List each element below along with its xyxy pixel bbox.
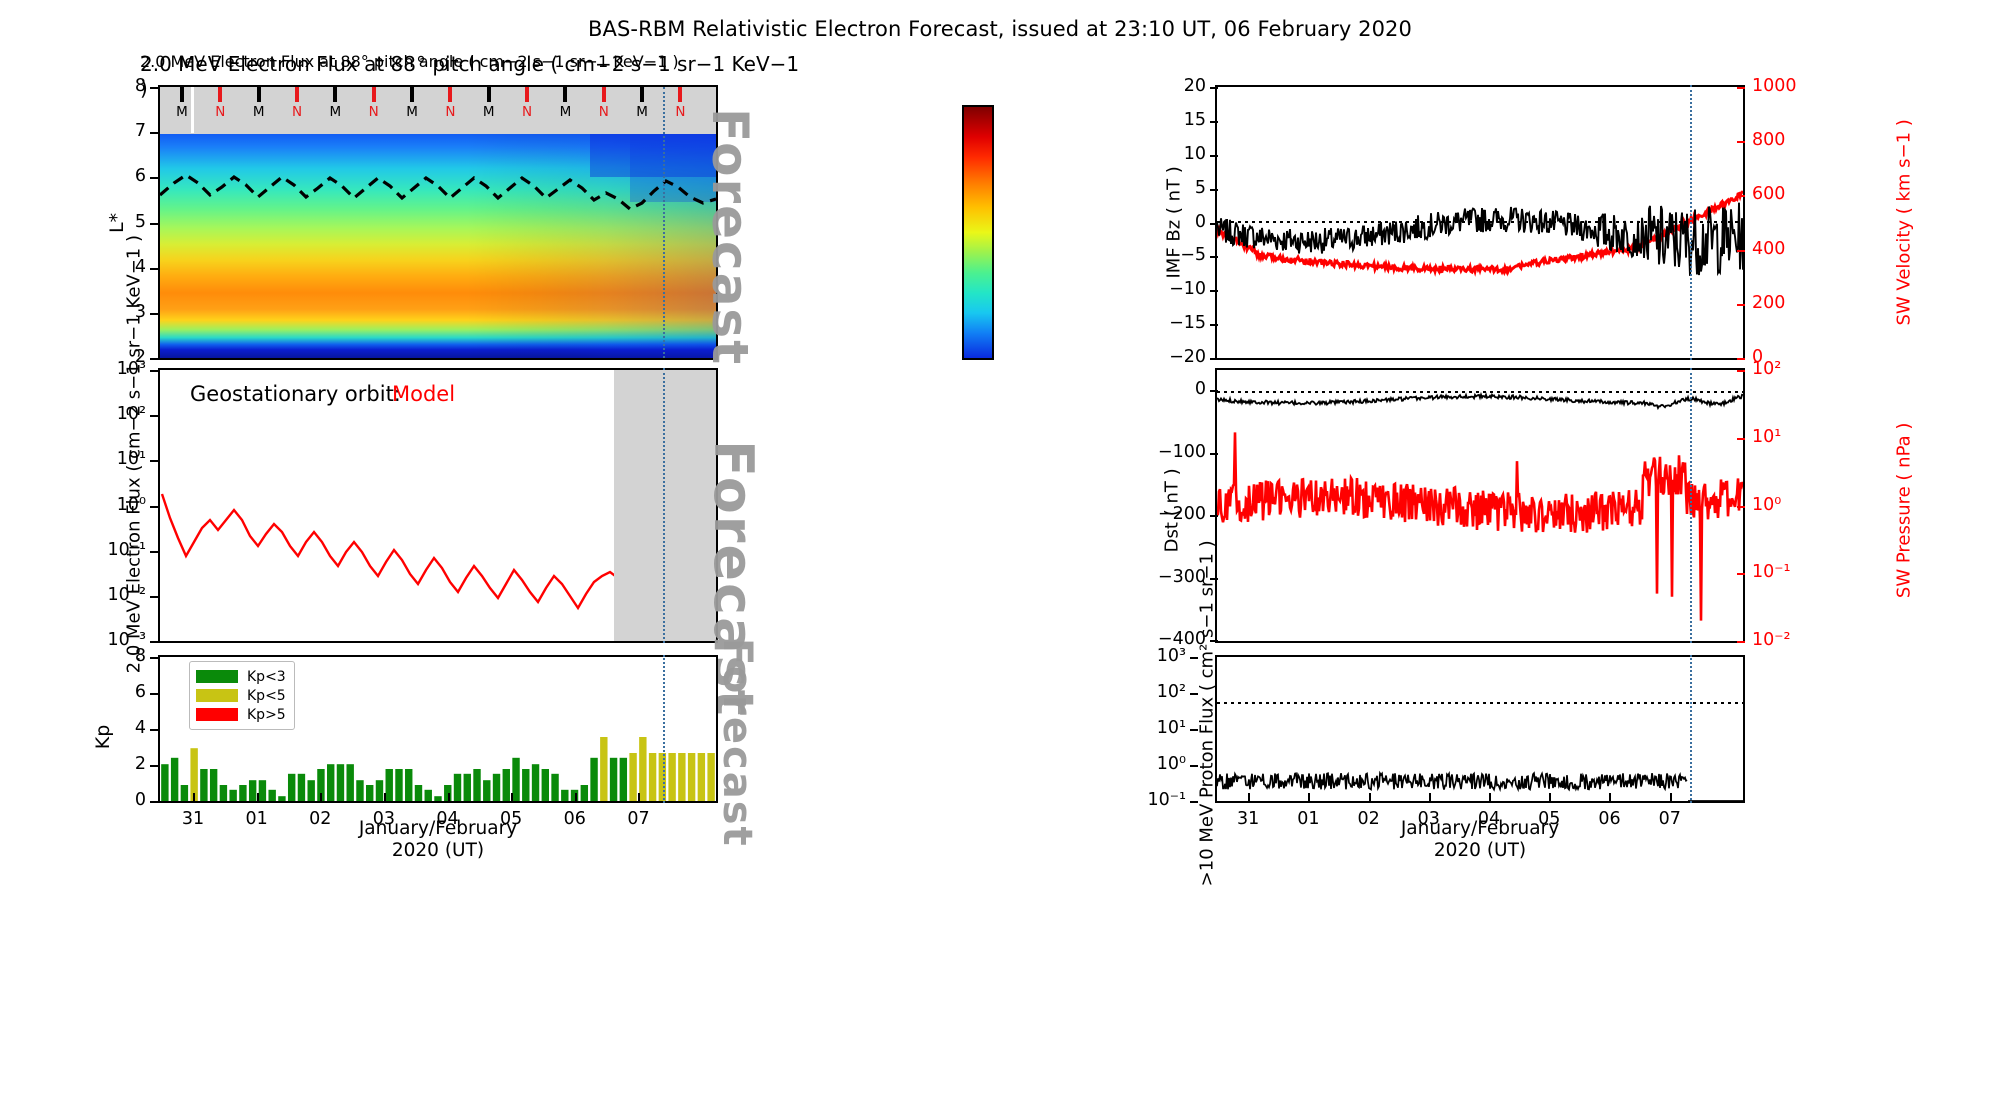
colorbar <box>962 105 994 360</box>
imf-ylabel-left: IMF Bz ( nT ) <box>1165 132 1186 312</box>
kp-legend-swatch-red <box>196 708 238 721</box>
kp-bar <box>259 780 266 801</box>
kp-bar <box>366 785 373 801</box>
kp-bar <box>688 753 695 801</box>
imf-yr-label: 200 <box>1752 293 1785 313</box>
dst-yl-tick <box>1210 515 1218 517</box>
kp-yticks-tick <box>150 801 158 803</box>
mn-tick-m <box>180 87 184 102</box>
dst-yr-label: 10⁻² <box>1752 630 1791 650</box>
imf-ylabel-left-text: IMF Bz ( nT ) <box>1164 166 1185 278</box>
dst-yr-label: 10⁰ <box>1752 495 1781 515</box>
spec-yticks-tick <box>150 268 158 270</box>
kp-bar <box>181 785 188 801</box>
left-xlabel-line1: January/February <box>258 818 618 840</box>
right-xticks-tick <box>1248 793 1250 803</box>
left-xticks-label: 07 <box>625 809 651 829</box>
imf-yr-label: 800 <box>1752 130 1785 150</box>
mn-label-m: M <box>401 104 423 120</box>
watermark-geo: Forecast <box>705 440 765 670</box>
left-xticks-tick <box>575 793 577 803</box>
kp-yticks-label: 8 <box>108 646 146 666</box>
proton-curve <box>1217 657 1743 801</box>
kp-yticks-tick <box>150 657 158 659</box>
prot-yticks-label: 10³ <box>1130 646 1186 666</box>
kp-bar <box>473 769 480 801</box>
kp-bar <box>649 753 656 801</box>
kp-bar <box>639 737 646 801</box>
dst-ylabel-right: SW Pressure ( nPa ) <box>1895 395 1916 625</box>
kp-bar <box>698 753 705 801</box>
kp-bar <box>522 769 529 801</box>
imf-yl-tick <box>1210 358 1218 360</box>
mn-tick-m <box>410 87 414 102</box>
imf-yr-label: 1000 <box>1752 76 1797 96</box>
kp-yticks-label: 0 <box>108 790 146 810</box>
mn-label-m: M <box>478 104 500 120</box>
dst-yl-tick <box>1210 390 1218 392</box>
left-xticks-label: 31 <box>180 809 206 829</box>
mn-label-n: N <box>669 104 691 120</box>
mn-tick-n <box>525 87 529 102</box>
left-xticks-tick <box>638 793 640 803</box>
mn-label-n: N <box>516 104 538 120</box>
geo-yticks-tick <box>150 551 158 553</box>
spec-yticks-tick <box>150 313 158 315</box>
kp-bar <box>425 790 432 801</box>
right-xticks-label: 07 <box>1657 809 1683 829</box>
geo-yticks-tick <box>150 370 158 372</box>
forecast-line-dst <box>1690 368 1692 643</box>
dst-yr-tick <box>1737 641 1745 643</box>
right-xlabel: January/February 2020 (UT) <box>1300 818 1660 862</box>
left-xticks-tick <box>320 793 322 803</box>
forecast-line-geo <box>663 368 665 643</box>
kp-bar <box>610 758 617 801</box>
kp-legend-row: Kp<5 <box>196 686 286 705</box>
mn-label-m: M <box>324 104 346 120</box>
kp-bar <box>668 753 675 801</box>
mn-tick-m <box>487 87 491 102</box>
mn-label-n: N <box>363 104 385 120</box>
forecast-line-kp <box>663 655 665 803</box>
spec-yticks-tick <box>150 177 158 179</box>
kp-bar <box>542 769 549 801</box>
mn-tick-n <box>602 87 606 102</box>
kp-bar <box>161 764 168 801</box>
imf-yr-label: 400 <box>1752 239 1785 259</box>
kp-bar <box>307 780 314 801</box>
kp-bar <box>386 769 393 801</box>
figure-title: BAS-RBM Relativistic Electron Forecast, … <box>0 17 2000 41</box>
mn-label-n: N <box>209 104 231 120</box>
proton-ylabel: >10 MeV Proton Flux ( cm² s−1 sr−1 ) <box>1198 586 1219 886</box>
geo-flux-ylabel: 2.0 MeV Electron Flux ( cm−2 s−1 sr−1 Ke… <box>125 343 146 673</box>
imf-yl-tick <box>1210 290 1218 292</box>
left-xticks-tick <box>193 793 195 803</box>
kp-bar <box>229 790 236 801</box>
mn-label-n: N <box>286 104 308 120</box>
imf-yl-tick <box>1210 87 1218 89</box>
mn-tick-n <box>372 87 376 102</box>
dst-yr-label: 10⁻¹ <box>1752 562 1791 582</box>
imf-yl-label: 20 <box>1150 76 1206 96</box>
mn-label-n: N <box>439 104 461 120</box>
left-xticks-tick <box>257 793 259 803</box>
prot-yticks-label: 10⁰ <box>1130 754 1186 774</box>
kp-bar <box>268 790 275 801</box>
imf-yl-tick <box>1210 121 1218 123</box>
kp-bar <box>278 796 285 801</box>
kp-legend-swatch-yellow <box>196 689 238 702</box>
kp-yticks-tick <box>150 693 158 695</box>
kp-yticks-tick <box>150 729 158 731</box>
kp-bar <box>464 774 471 801</box>
kp-bar <box>561 790 568 801</box>
kp-bar <box>347 764 354 801</box>
geo-yticks-tick <box>150 641 158 643</box>
kp-bar <box>405 769 412 801</box>
kp-legend-row: Kp>5 <box>196 705 286 724</box>
dst-yr-tick <box>1737 506 1745 508</box>
kp-bar <box>678 753 685 801</box>
kp-bar <box>483 780 490 801</box>
right-xlabel-line2: 2020 (UT) <box>1300 840 1660 862</box>
mn-label-m: M <box>248 104 270 120</box>
kp-bar <box>512 758 519 801</box>
mn-label-m: M <box>631 104 653 120</box>
prot-yticks-label: 10² <box>1130 682 1186 702</box>
colorbar-gradient <box>964 107 992 358</box>
mn-tick-n <box>448 87 452 102</box>
kp-bar <box>327 764 334 801</box>
watermark-kp: Forecast <box>710 638 760 828</box>
imf-yl-tick <box>1210 223 1218 225</box>
imf-curves <box>1217 87 1743 358</box>
mn-tick-n <box>295 87 299 102</box>
kp-bar <box>356 780 363 801</box>
kp-legend-label-0: Kp<3 <box>247 669 286 685</box>
imf-yl-label: −20 <box>1150 347 1206 367</box>
kp-bar <box>288 774 295 801</box>
geo-label-static: Geostationary orbit: <box>190 382 401 406</box>
mn-tick-m <box>563 87 567 102</box>
dst-axes <box>1215 368 1745 643</box>
imf-yr-tick <box>1737 250 1745 252</box>
kp-bar <box>415 785 422 801</box>
dst-yr-tick <box>1737 438 1745 440</box>
kp-legend-label-2: Kp>5 <box>247 707 286 723</box>
imf-yr-tick <box>1737 87 1745 89</box>
right-xticks-tick <box>1670 793 1672 803</box>
forecast-shade-geo <box>614 370 716 641</box>
geo-label-model: Model <box>392 382 455 406</box>
proton-axes <box>1215 655 1745 803</box>
kp-yticks-tick <box>150 765 158 767</box>
spec-yticks-label: 7 <box>108 121 146 141</box>
kp-bar <box>600 737 607 801</box>
kp-bar <box>620 758 627 801</box>
prot-yticks-label: 10⁻¹ <box>1130 790 1186 810</box>
right-xticks-tick <box>1308 793 1310 803</box>
dst-ylabel-left: Dst ( nT ) <box>1163 435 1184 585</box>
geo-yticks-tick <box>150 506 158 508</box>
dst-curves <box>1217 370 1743 641</box>
dst-yl-tick <box>1210 453 1218 455</box>
dst-yr-tick <box>1737 370 1745 372</box>
spec-yticks-tick <box>150 358 158 360</box>
kp-bar <box>434 796 441 801</box>
kp-bar <box>200 769 207 801</box>
kp-yticks-label: 6 <box>108 682 146 702</box>
dst-yl-label: 0 <box>1120 379 1206 399</box>
dst-yr-label: 10² <box>1752 359 1781 379</box>
imf-ylabel-right: SW Velocity ( km s−1 ) <box>1895 107 1916 337</box>
left-xlabel: January/February 2020 (UT) <box>258 818 618 862</box>
mn-label-m: M <box>171 104 193 120</box>
kp-bar <box>454 774 461 801</box>
left-xticks-tick <box>511 793 513 803</box>
dst-ylabel-left-text: Dst ( nT ) <box>1162 468 1183 552</box>
imf-yl-tick <box>1210 155 1218 157</box>
kp-ylabel: Kp <box>93 707 115 767</box>
kp-bar <box>337 764 344 801</box>
geo-yticks-tick <box>150 596 158 598</box>
dst-ylabel-right-text: SW Pressure ( nPa ) <box>1894 423 1915 599</box>
kp-bar <box>581 785 588 801</box>
left-xlabel-line2: 2020 (UT) <box>258 840 618 862</box>
kp-bar <box>493 774 500 801</box>
kp-bar <box>503 769 510 801</box>
mn-tick-m <box>640 87 644 102</box>
mn-label-n: N <box>593 104 615 120</box>
imf-yr-tick <box>1737 304 1745 306</box>
imf-yl-label: 15 <box>1150 110 1206 130</box>
right-xticks-label: 31 <box>1235 809 1261 829</box>
prot-yticks-label: 10¹ <box>1130 718 1186 738</box>
right-xticks-tick <box>1369 793 1371 803</box>
spec-yticks-tick <box>150 132 158 134</box>
kp-bar <box>239 785 246 801</box>
dst-yr-label: 10¹ <box>1752 427 1781 447</box>
imf-yl-tick <box>1210 256 1218 258</box>
kp-bar <box>376 780 383 801</box>
kp-bar <box>220 785 227 801</box>
right-xlabel-line1: January/February <box>1300 818 1660 840</box>
right-xticks-tick <box>1489 793 1491 803</box>
mn-tick-m <box>257 87 261 102</box>
kp-legend-label-1: Kp<5 <box>247 688 286 704</box>
kp-bar <box>171 758 178 801</box>
figure-root: BAS-RBM Relativistic Electron Forecast, … <box>0 0 2000 1100</box>
geo-flux-axes <box>158 368 718 643</box>
mn-label-m: M <box>554 104 576 120</box>
mn-tick-n <box>678 87 682 102</box>
kp-bar <box>532 764 539 801</box>
kp-bar <box>249 780 256 801</box>
imf-yr-tick <box>1737 141 1745 143</box>
left-xticks-tick <box>448 793 450 803</box>
imf-axes <box>1215 85 1745 360</box>
imf-ylabel-right-text: SW Velocity ( km s−1 ) <box>1894 119 1915 325</box>
geo-yticks-tick <box>150 415 158 417</box>
spec-yticks-label: 6 <box>108 166 146 186</box>
watermark-spectrogram: Forecast <box>699 108 759 298</box>
kp-bar <box>590 758 597 801</box>
imf-yl-tick <box>1210 324 1218 326</box>
kp-bar <box>298 774 305 801</box>
proton-ylabel-text: >10 MeV Proton Flux ( cm² s−1 sr−1 ) <box>1197 540 1218 886</box>
forecast-line-spectrogram <box>663 87 665 358</box>
dst-yr-tick <box>1737 573 1745 575</box>
imf-yr-label: 600 <box>1752 184 1785 204</box>
mn-tick-m <box>333 87 337 102</box>
kp-bar <box>395 769 402 801</box>
geo-ylabel-text: 2.0 MeV Electron Flux ( cm−2 s−1 sr−1 Ke… <box>124 235 145 673</box>
imf-yl-label: −15 <box>1150 313 1206 333</box>
geo-yticks-tick <box>150 460 158 462</box>
kp-bar <box>551 774 558 801</box>
right-xticks-tick <box>1609 793 1611 803</box>
kp-legend-row: Kp<3 <box>196 667 286 686</box>
kp-bar <box>629 753 636 801</box>
mn-tick-n <box>218 87 222 102</box>
right-xticks-tick <box>1549 793 1551 803</box>
right-xticks-tick <box>1429 793 1431 803</box>
left-xticks-tick <box>384 793 386 803</box>
spec-yticks-tick <box>150 223 158 225</box>
kp-legend-swatch-green <box>196 670 238 683</box>
kp-legend: Kp<3 Kp<5 Kp>5 <box>189 661 295 730</box>
forecast-line-proton <box>1690 655 1692 803</box>
spec-yticks-tick <box>150 87 158 89</box>
kp-bar <box>210 769 217 801</box>
forecast-line-imf <box>1690 85 1692 360</box>
imf-yl-tick <box>1210 189 1218 191</box>
spec-yticks-label: 8 <box>108 76 146 96</box>
imf-yr-tick <box>1737 358 1745 360</box>
imf-yr-tick <box>1737 195 1745 197</box>
